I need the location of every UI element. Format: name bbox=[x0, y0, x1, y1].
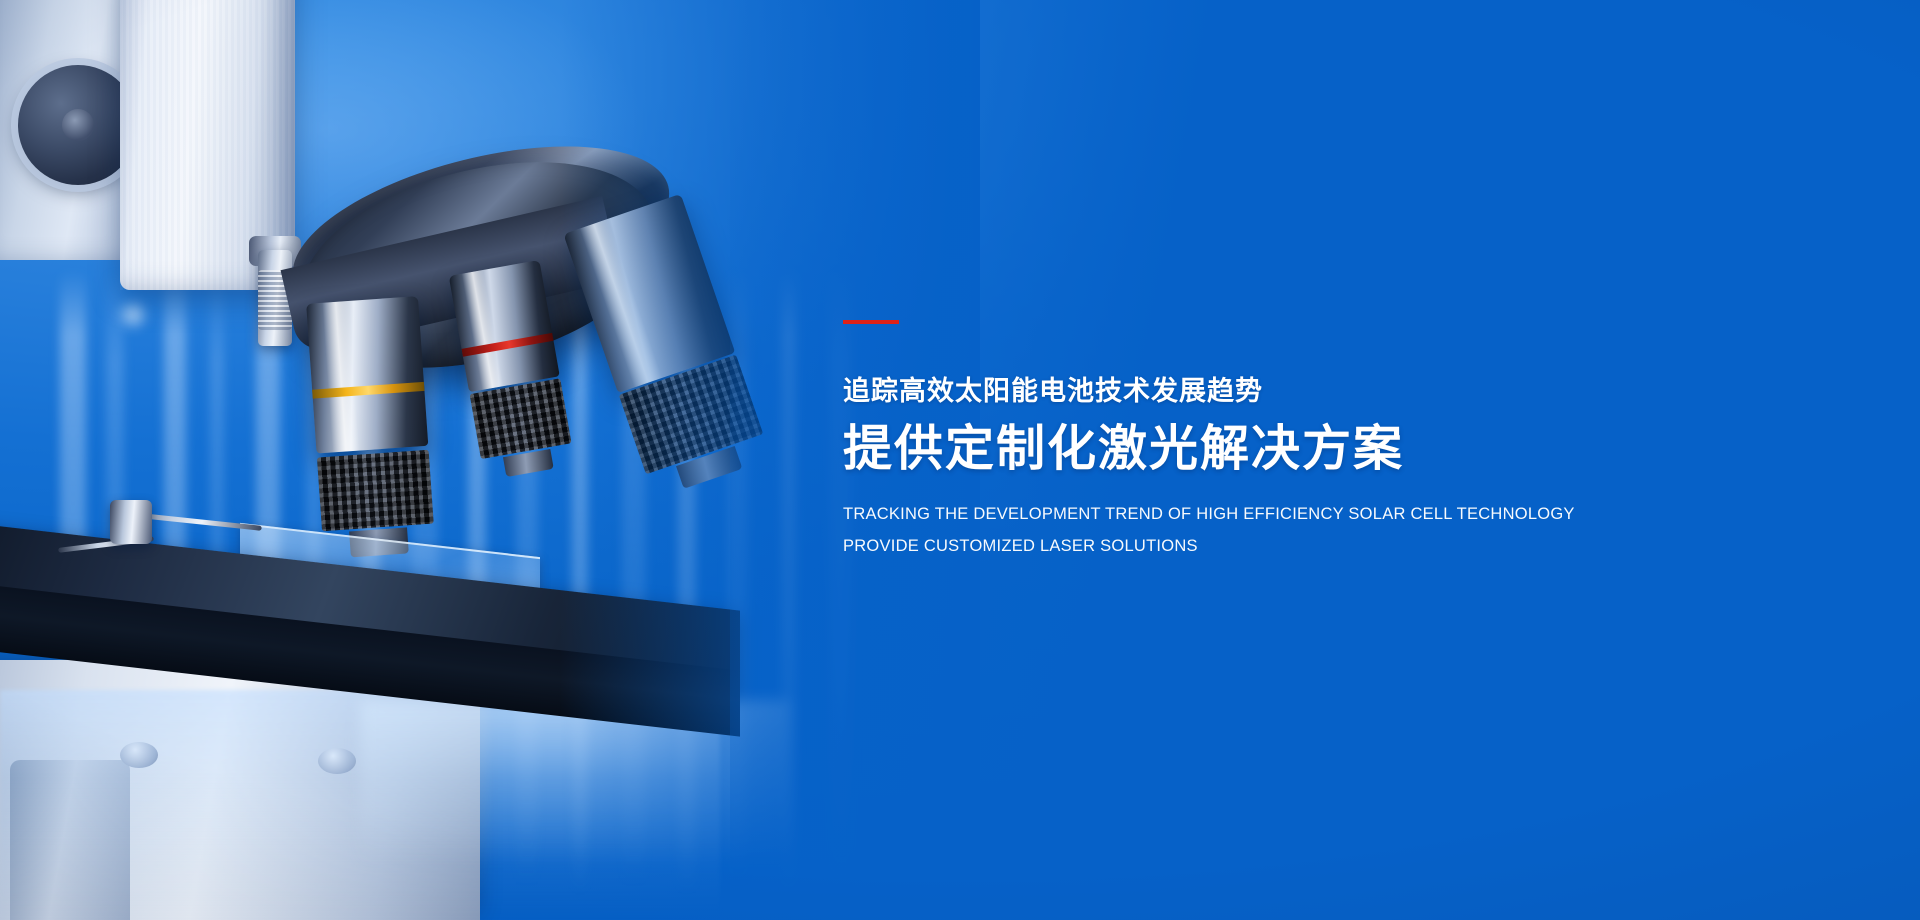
subtitle-english-line-1: TRACKING THE DEVELOPMENT TREND OF HIGH E… bbox=[843, 498, 1703, 530]
subtitle-english-line-2: PROVIDE CUSTOMIZED LASER SOLUTIONS bbox=[843, 530, 1703, 562]
hero-copy-block: 追踪高效太阳能电池技术发展趋势 提供定制化激光解决方案 TRACKING THE… bbox=[843, 300, 1703, 562]
headline-chinese-small: 追踪高效太阳能电池技术发展趋势 bbox=[843, 377, 1703, 407]
hero-banner: 追踪高效太阳能电池技术发展趋势 提供定制化激光解决方案 TRACKING THE… bbox=[0, 0, 1920, 920]
headline-chinese-large: 提供定制化激光解决方案 bbox=[843, 421, 1703, 478]
accent-rule-divider bbox=[843, 320, 899, 324]
subtitle-english: TRACKING THE DEVELOPMENT TREND OF HIGH E… bbox=[843, 498, 1703, 562]
